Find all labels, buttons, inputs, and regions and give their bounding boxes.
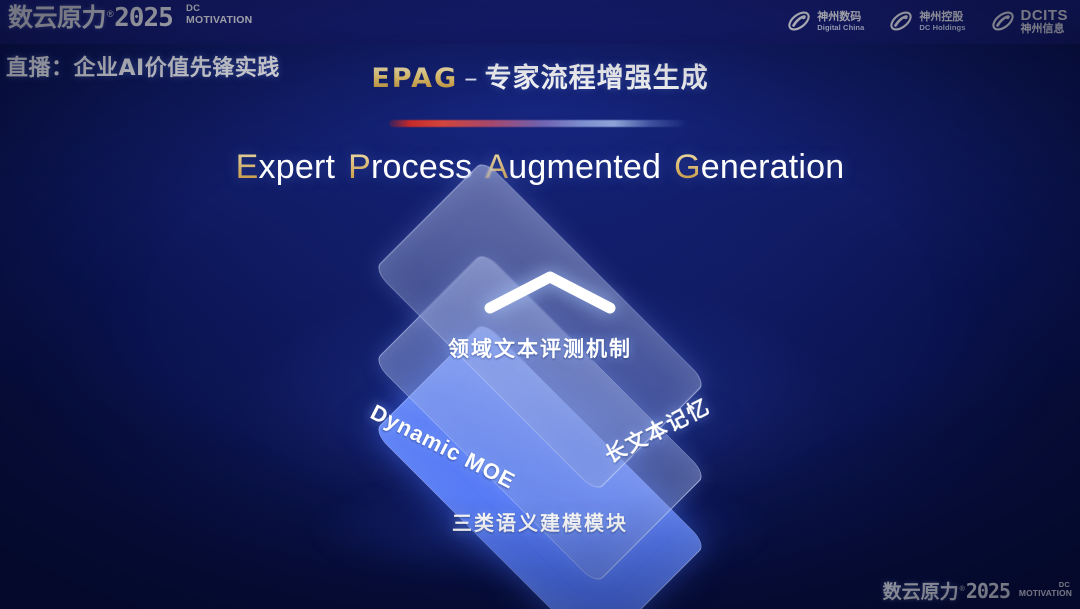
watermark-motivation-text: MOTIVATION [1019, 589, 1072, 598]
layer-label-bottom: 三类语义建模模块 [0, 507, 1080, 536]
chevron-up-icon [482, 268, 618, 316]
watermark-name-cn: 数云原力 [883, 581, 959, 603]
watermark-registered-mark: ® [960, 586, 965, 593]
watermark: 数云原力 ® 2025 DC MOTIVATION [842, 575, 1072, 605]
slide-canvas: 数云原力 ® 2025 DC MOTIVATION 直播：企业AI价值先锋实践 … [0, 0, 1080, 609]
watermark-brand: 数云原力 ® 2025 [883, 579, 1010, 603]
watermark-year: 2025 [966, 579, 1010, 603]
layer-label-top: 领域文本评测机制 [0, 333, 1080, 363]
